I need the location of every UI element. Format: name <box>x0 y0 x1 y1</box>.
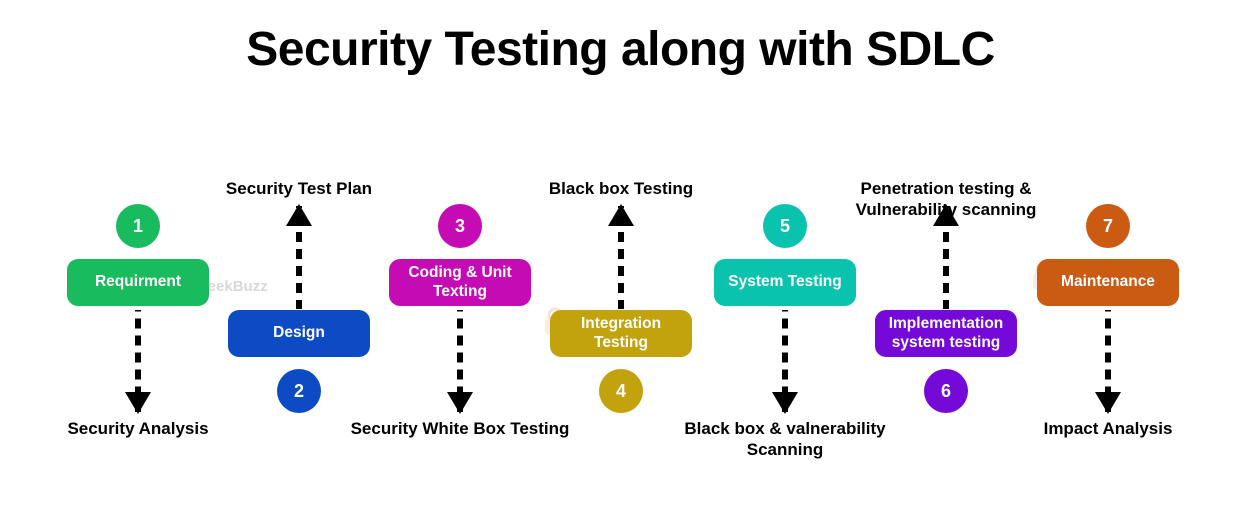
flow-arrow-down <box>1107 310 1109 412</box>
flow-arrow-down <box>459 310 461 412</box>
arrow-head <box>1095 392 1121 414</box>
flow-arrow-up <box>945 206 947 309</box>
stage-box[interactable]: Requirment <box>67 259 209 306</box>
stage-7: 7MaintenanceImpact Analysis <box>1008 0 1208 522</box>
arrow-head <box>447 392 473 414</box>
stage-number-badge: 7 <box>1086 204 1130 248</box>
flow-arrow-down <box>784 310 786 412</box>
stage-number-badge: 5 <box>763 204 807 248</box>
arrow-head <box>608 204 634 226</box>
arrow-head <box>286 204 312 226</box>
flow-arrow-up <box>298 206 300 309</box>
stage-box[interactable]: Integration Testing <box>550 310 692 357</box>
flow-arrow-down <box>137 310 139 412</box>
stage-number-badge: 3 <box>438 204 482 248</box>
flow-arrow-up <box>620 206 622 309</box>
stage-box[interactable]: System Testing <box>714 259 856 306</box>
security-activity-label: Impact Analysis <box>978 418 1238 439</box>
stage-box[interactable]: Implementation system testing <box>875 310 1017 357</box>
stage-number-badge: 6 <box>924 369 968 413</box>
stage-box[interactable]: Coding & Unit Texting <box>389 259 531 306</box>
stage-number-badge: 4 <box>599 369 643 413</box>
arrow-head <box>772 392 798 414</box>
stage-box[interactable]: Design <box>228 310 370 357</box>
arrow-head <box>125 392 151 414</box>
stage-number-badge: 2 <box>277 369 321 413</box>
stage-number-badge: 1 <box>116 204 160 248</box>
diagram-canvas: Security Testing along with SDLC GeekBuz… <box>0 0 1241 522</box>
stage-box[interactable]: Maintenance <box>1037 259 1179 306</box>
arrow-head <box>933 204 959 226</box>
